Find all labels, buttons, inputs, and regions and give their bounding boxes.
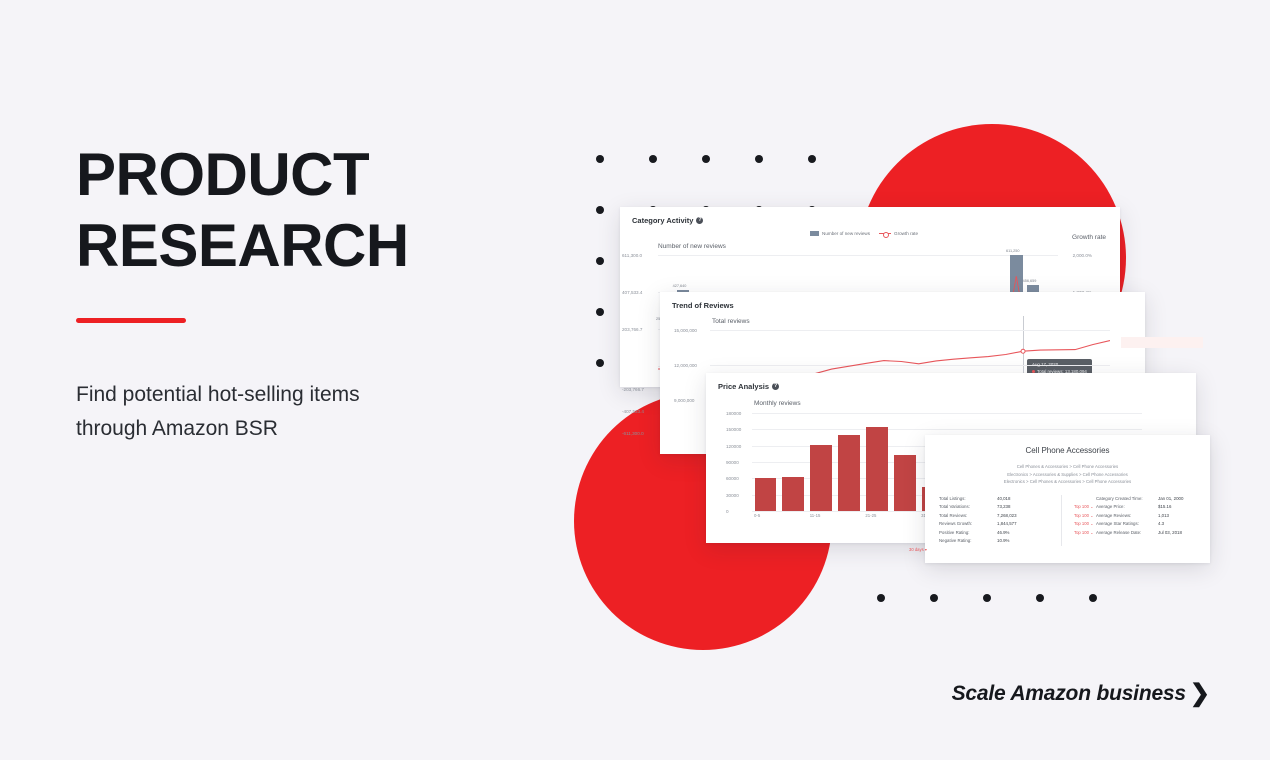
- y-axis-tick: 9,000,000: [674, 398, 694, 403]
- decorative-dot: [983, 594, 991, 602]
- decorative-dot: [930, 594, 938, 602]
- bar[interactable]: [810, 445, 832, 511]
- legend-label-growth-rate: Growth rate: [894, 231, 918, 236]
- stat-label: Average Reviews:: [1096, 512, 1158, 521]
- chevron-right-icon: ❯: [1190, 682, 1210, 706]
- y-axis-tick: 90000: [726, 460, 739, 465]
- gridline: [752, 413, 1142, 414]
- slide-canvas: PRODUCT RESEARCH Find potential hot-sell…: [0, 0, 1270, 760]
- category-stats: 30 days ▾ Total Listings:40,018Total Var…: [939, 495, 1196, 546]
- stat-row: Total Reviews:7,268,023: [939, 512, 1061, 521]
- decorative-dot: [596, 257, 604, 265]
- y-axis-tick: 15,000,000: [674, 328, 697, 333]
- stat-label: Average Star Ratings:: [1096, 520, 1158, 529]
- title-underline-rule: [76, 318, 186, 323]
- x-axis-tick: 0-5: [754, 513, 760, 518]
- bar[interactable]: [894, 455, 916, 511]
- y-axis-tick: -611,300.0: [622, 431, 644, 436]
- y-axis-tick: -407,533.4: [622, 409, 644, 414]
- pink-band-decoration: [1121, 337, 1203, 348]
- stat-value: 1,013: [1158, 512, 1169, 521]
- stats-column-right: Category Created Time:Jan 01, 2000Top 10…: [1061, 495, 1196, 546]
- top-100-tag[interactable]: Top 100 ⌄: [1074, 512, 1096, 520]
- y-axis-tick: 120000: [726, 444, 741, 449]
- stat-value: 73,238: [997, 503, 1010, 512]
- stat-value: 40,018: [997, 495, 1010, 504]
- category-activity-title-text: Category Activity: [632, 216, 693, 225]
- y-axis-tick: 30000: [726, 493, 739, 498]
- decorative-dot: [808, 155, 816, 163]
- decorative-dot: [1089, 594, 1097, 602]
- y-axis-tick: 180000: [726, 411, 741, 416]
- stat-value: 7,268,023: [997, 512, 1017, 521]
- bar[interactable]: [838, 435, 860, 511]
- legend-line-swatch-icon: [879, 231, 891, 236]
- decorative-dot: [755, 155, 763, 163]
- stat-row: Reviews Growth:1,844,577: [939, 520, 1061, 529]
- y-axis-tick: 203,766.7: [622, 327, 642, 332]
- stat-row: Top 100 ⌄Average Release Date:Jul 03, 20…: [1074, 529, 1196, 538]
- stat-row: Negative Rating:10.9%: [939, 537, 1061, 546]
- stat-value: 10.9%: [997, 537, 1009, 546]
- stat-row: Top 100 ⌄Average Star Ratings:4.3: [1074, 520, 1196, 529]
- breadcrumb-1[interactable]: Cell Phones & Accessories > Cell Phone A…: [939, 463, 1196, 471]
- stat-row: Top 100 ⌄Average Price:$15.16: [1074, 503, 1196, 512]
- stat-value: 46.9%: [997, 529, 1009, 538]
- stat-label: Total Listings:: [939, 495, 997, 504]
- gridline: [752, 429, 1142, 430]
- bar[interactable]: [755, 478, 777, 511]
- decorative-dot: [596, 155, 604, 163]
- card-title-category-activity: Category Activity ?: [632, 216, 1108, 225]
- stat-label: Total Reviews:: [939, 512, 997, 521]
- help-icon[interactable]: ?: [696, 217, 703, 224]
- stat-value: 1,844,577: [997, 520, 1017, 529]
- y2-axis-tick: 2,000.0%: [1073, 253, 1092, 258]
- stat-label: Total Variations:: [939, 503, 997, 512]
- stat-label: Negative Rating:: [939, 537, 997, 546]
- decorative-dot: [877, 594, 885, 602]
- top-100-tag[interactable]: Top 100 ⌄: [1074, 503, 1096, 511]
- decorative-dot: [596, 206, 604, 214]
- card-title-price-analysis: Price Analysis ?: [718, 382, 1184, 391]
- decorative-dot: [702, 155, 710, 163]
- y-axis-tick: 611,300.0: [622, 253, 642, 258]
- y-axis-tick: 12,000,000: [674, 363, 697, 368]
- stat-label: Category Created Time:: [1096, 495, 1158, 504]
- breadcrumb-3[interactable]: Electronics > Cell Phones & Accessories …: [939, 478, 1196, 486]
- stat-row: Total Listings:40,018: [939, 495, 1061, 504]
- y-axis-label-total-reviews: Total reviews: [712, 318, 750, 325]
- decorative-dot: [649, 155, 657, 163]
- y-axis-tick: 60000: [726, 476, 739, 481]
- stat-label: Average Price:: [1096, 503, 1158, 512]
- stat-value: 4.3: [1158, 520, 1164, 529]
- help-icon[interactable]: ?: [772, 383, 779, 390]
- decorative-dot: [1036, 594, 1044, 602]
- y-axis-label-growth-rate: Growth rate: [1072, 234, 1106, 241]
- price-analysis-title-text: Price Analysis: [718, 382, 769, 391]
- stat-row: Category Created Time:Jan 01, 2000: [1074, 495, 1196, 504]
- range-selector-30-days[interactable]: 30 days ▾: [909, 547, 927, 552]
- stats-column-left: 30 days ▾ Total Listings:40,018Total Var…: [939, 495, 1061, 546]
- legend-item-new-reviews[interactable]: Number of new reviews: [810, 231, 870, 236]
- x-axis-tick: 21-25: [865, 513, 876, 518]
- y-axis-label-monthly-reviews: Monthly reviews: [754, 400, 801, 407]
- legend-label-new-reviews: Number of new reviews: [822, 231, 870, 236]
- stat-label: Average Release Date:: [1096, 529, 1158, 538]
- card-cell-phone-accessories[interactable]: Cell Phone Accessories Cell Phones & Acc…: [925, 435, 1210, 563]
- stat-row: Total Variations:73,238: [939, 503, 1061, 512]
- breadcrumb-2[interactable]: Electronics > Accessories & Supplies > C…: [939, 471, 1196, 479]
- category-name-heading: Cell Phone Accessories: [939, 446, 1196, 455]
- chart-legend-category-activity: Number of new reviews Growth rate: [810, 231, 918, 236]
- decorative-dot: [596, 359, 604, 367]
- y-axis-tick: 150000: [726, 427, 741, 432]
- y-axis-label-new-reviews: Number of new reviews: [658, 243, 726, 250]
- top-100-tag[interactable]: Top 100 ⌄: [1074, 529, 1096, 537]
- stat-label: Reviews Growth:: [939, 520, 997, 529]
- stat-row: Positive Rating:46.9%: [939, 529, 1061, 538]
- bar[interactable]: [866, 427, 888, 511]
- stat-value: Jan 01, 2000: [1158, 495, 1183, 504]
- page-title: PRODUCT RESEARCH: [76, 140, 409, 282]
- y-axis-tick: 407,533.4: [622, 290, 642, 295]
- trend-of-reviews-title-text: Trend of Reviews: [672, 301, 734, 310]
- legend-bar-swatch-icon: [810, 231, 819, 236]
- bar-value-label: 611,250: [1006, 249, 1019, 253]
- y-axis-tick: -203,766.7: [622, 387, 644, 392]
- page-subtitle: Find potential hot-selling items through…: [76, 378, 506, 446]
- stat-row: Top 100 ⌄Average Reviews:1,013: [1074, 512, 1196, 521]
- decorative-dot: [596, 308, 604, 316]
- stat-label: Positive Rating:: [939, 529, 997, 538]
- legend-item-growth-rate[interactable]: Growth rate: [879, 231, 918, 236]
- top-100-tag[interactable]: Top 100 ⌄: [1074, 520, 1096, 528]
- y-axis-tick: 0: [726, 509, 729, 514]
- footer-cta-label: Scale Amazon business: [952, 682, 1186, 706]
- bar[interactable]: [782, 477, 804, 511]
- x-axis-tick: 11-15: [810, 513, 821, 518]
- stat-value: Jul 03, 2018: [1158, 529, 1182, 538]
- card-title-trend-of-reviews: Trend of Reviews: [672, 301, 1133, 310]
- stat-value: $15.16: [1158, 503, 1171, 512]
- footer-cta[interactable]: Scale Amazon business ❯: [952, 682, 1210, 706]
